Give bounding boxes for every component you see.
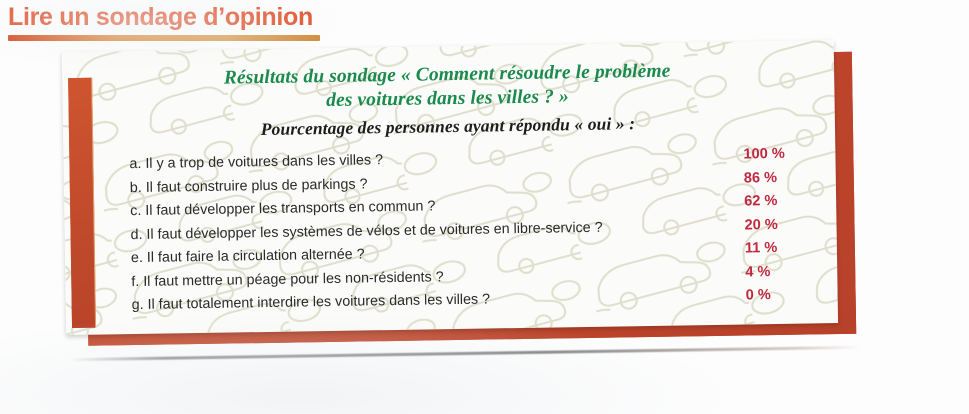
survey-title: Résultats du sondage « Comment résoudre … — [142, 58, 753, 116]
card-paper: Résultats du sondage « Comment résoudre … — [62, 40, 838, 335]
page-heading: Lire un sondage d’opinion — [8, 4, 528, 41]
result-spacer — [490, 299, 746, 303]
result-label: c. Il faut développer les transports en … — [130, 198, 435, 219]
result-label: b. Il faut construire plus de parkings ? — [130, 176, 368, 196]
result-spacer — [365, 252, 745, 258]
page-title: Lire un sondage d’opinion — [8, 4, 528, 32]
result-spacer — [368, 182, 744, 188]
survey-card: Résultats du sondage « Comment résoudre … — [54, 38, 859, 351]
result-value: 62 % — [744, 192, 820, 209]
result-value: 86 % — [744, 169, 820, 186]
result-value: 11 % — [745, 239, 821, 256]
result-spacer — [435, 205, 744, 210]
survey-results-list: a. Il y a trop de voitures dans les vill… — [129, 145, 821, 320]
result-spacer — [383, 158, 743, 164]
result-spacer — [603, 229, 745, 231]
title-underline-rule — [8, 35, 320, 41]
result-value: 4 % — [745, 263, 821, 280]
result-value: 0 % — [746, 286, 822, 303]
result-value: 20 % — [744, 216, 820, 233]
result-spacer — [444, 276, 746, 281]
survey-subtitle: Pourcentage des personnes ayant répondu … — [143, 111, 753, 142]
result-value: 100 % — [743, 145, 819, 162]
card-content: Résultats du sondage « Comment résoudre … — [62, 40, 838, 335]
result-label: a. Il y a trop de voitures dans les vill… — [129, 152, 383, 172]
result-label: e. Il faut faire la circulation alternée… — [131, 246, 365, 266]
